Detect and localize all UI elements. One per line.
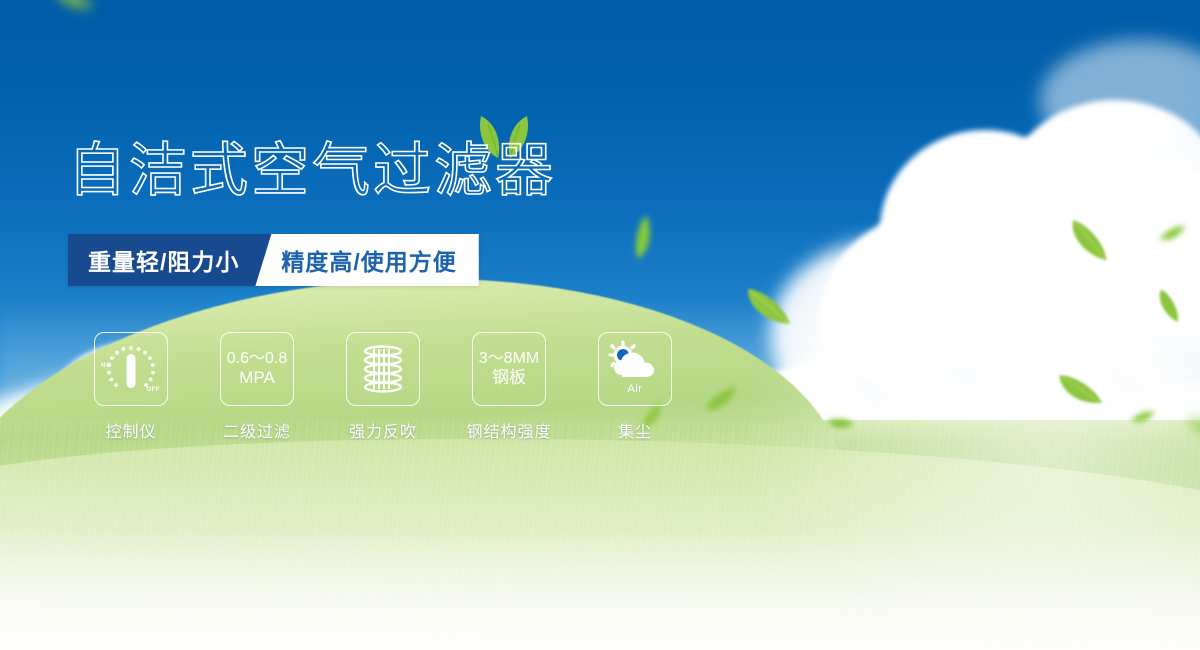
feature-item-blowback[interactable]: 强力反吹 [320,332,446,442]
pressure-value-line2: MPA [227,368,288,389]
feature-list: NO OFF 控制仪 0.6～0.8 MPA 二级过滤 [68,332,698,442]
cloud-sun-air-icon [604,339,666,387]
tagline-bar: 重量轻/阻力小 精度高/使用方便 [68,234,479,286]
gauge-label-no: NO [101,363,111,369]
feature-label: 二级过滤 [223,418,291,442]
steel-value-line2: 钢板 [479,368,539,389]
feature-icon-box: 0.6～0.8 MPA [220,332,294,406]
gauge-label-off: OFF [147,387,161,393]
gauge-dial-icon: NO OFF [102,341,160,397]
tagline-left: 重量轻/阻力小 [68,234,271,286]
feature-item-control[interactable]: NO OFF 控制仪 [68,332,194,442]
feature-label: 控制仪 [105,418,156,442]
pressure-value-line1: 0.6～0.8 [227,350,288,367]
feature-label: 集尘 [618,418,652,442]
feature-item-pressure[interactable]: 0.6～0.8 MPA 二级过滤 [194,332,320,442]
feature-item-steel[interactable]: 3～8MM 钢板 钢结构强度 [446,332,572,442]
banner-content: 自洁式空气过滤器 重量轻/阻力小 精度高/使用方便 [0,0,1200,650]
cloud-air-label: Air [628,383,643,395]
feature-icon-box [346,332,420,406]
product-banner: 自洁式空气过滤器 重量轻/阻力小 精度高/使用方便 [0,0,1200,650]
steel-value-line1: 3～8MM [479,350,539,367]
feature-icon-box: 3～8MM 钢板 [472,332,546,406]
page-title: 自洁式空气过滤器 [68,142,556,200]
tagline-right: 精度高/使用方便 [255,234,478,286]
pressure-value-icon: 0.6～0.8 MPA [227,349,288,389]
feature-label: 钢结构强度 [466,418,551,442]
feature-icon-box: Air [598,332,672,406]
feature-item-dust[interactable]: Air 集尘 [572,332,698,442]
feature-icon-box: NO OFF [94,332,168,406]
feature-label: 强力反吹 [349,418,417,442]
filter-cartridge-icon [357,342,409,396]
steel-plate-value-icon: 3～8MM 钢板 [479,349,539,389]
